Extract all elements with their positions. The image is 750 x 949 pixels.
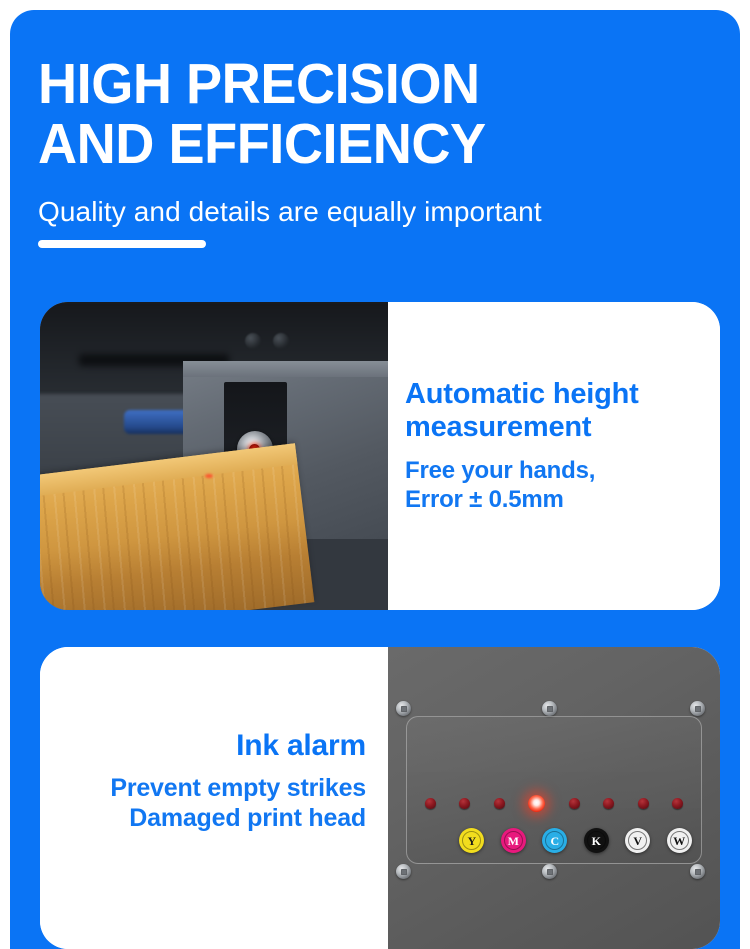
promo-panel: HIGH PRECISION AND EFFICIENCY Quality an…: [10, 10, 740, 949]
ink-led-indicator: [638, 798, 649, 809]
panel-screw-icon: [396, 864, 411, 879]
ink-badge-label: V: [633, 835, 642, 847]
ink-badge-black: K: [584, 828, 609, 853]
ink-led-indicator-lit: [528, 795, 545, 812]
ink-led-indicator: [459, 798, 470, 809]
page-subtitle: Quality and details are equally importan…: [38, 196, 712, 228]
housing-screw-icon: [273, 333, 289, 349]
panel-screw-icon: [690, 864, 705, 879]
card-title: Automatic height measurement: [405, 378, 720, 444]
ink-badge-label: Y: [468, 835, 477, 847]
ink-badge-cyan: C: [542, 828, 567, 853]
card-copy: Ink alarm Prevent empty strikes Damaged …: [40, 647, 388, 949]
panel-screw-icon: [396, 701, 411, 716]
ink-badge-yellow: Y: [459, 828, 484, 853]
ink-badge-varnish: V: [625, 828, 650, 853]
ink-badge-white: W: [667, 828, 692, 853]
ink-badge-label: C: [550, 835, 559, 847]
card-body: Prevent empty strikes Damaged print head: [40, 773, 366, 833]
photo-panel-scene: Y M C K V W: [388, 647, 720, 949]
header: HIGH PRECISION AND EFFICIENCY Quality an…: [38, 54, 712, 248]
panel-screw-icon: [542, 864, 557, 879]
ink-badge-label: M: [508, 835, 519, 847]
ink-color-badge-row: Y M C K V W: [459, 828, 691, 853]
ink-alarm-panel-photo: Y M C K V W: [388, 647, 720, 949]
ink-led-indicator: [569, 798, 580, 809]
panel-screw-icon: [542, 701, 557, 716]
card-copy: Automatic height measurement Free your h…: [388, 302, 720, 610]
page-title: HIGH PRECISION AND EFFICIENCY: [38, 54, 678, 174]
height-sensor-photo: [40, 302, 388, 610]
card-title: Ink alarm: [40, 729, 366, 763]
housing-screw-icon: [245, 333, 261, 349]
panel-screw-icon: [690, 701, 705, 716]
title-underline-rule: [38, 240, 206, 248]
ink-alarm-led-row: [425, 795, 684, 812]
ink-badge-label: K: [592, 835, 601, 847]
ink-led-indicator: [603, 798, 614, 809]
ink-led-indicator: [672, 798, 683, 809]
feature-card-ink-alarm: Ink alarm Prevent empty strikes Damaged …: [40, 647, 720, 949]
photo-sensor-scene: [40, 302, 388, 610]
ink-led-indicator: [425, 798, 436, 809]
feature-card-height-measurement: Automatic height measurement Free your h…: [40, 302, 720, 610]
ink-badge-label: W: [673, 835, 685, 847]
ink-led-indicator: [494, 798, 505, 809]
card-body: Free your hands, Error ± 0.5mm: [405, 456, 720, 514]
ink-badge-magenta: M: [501, 828, 526, 853]
